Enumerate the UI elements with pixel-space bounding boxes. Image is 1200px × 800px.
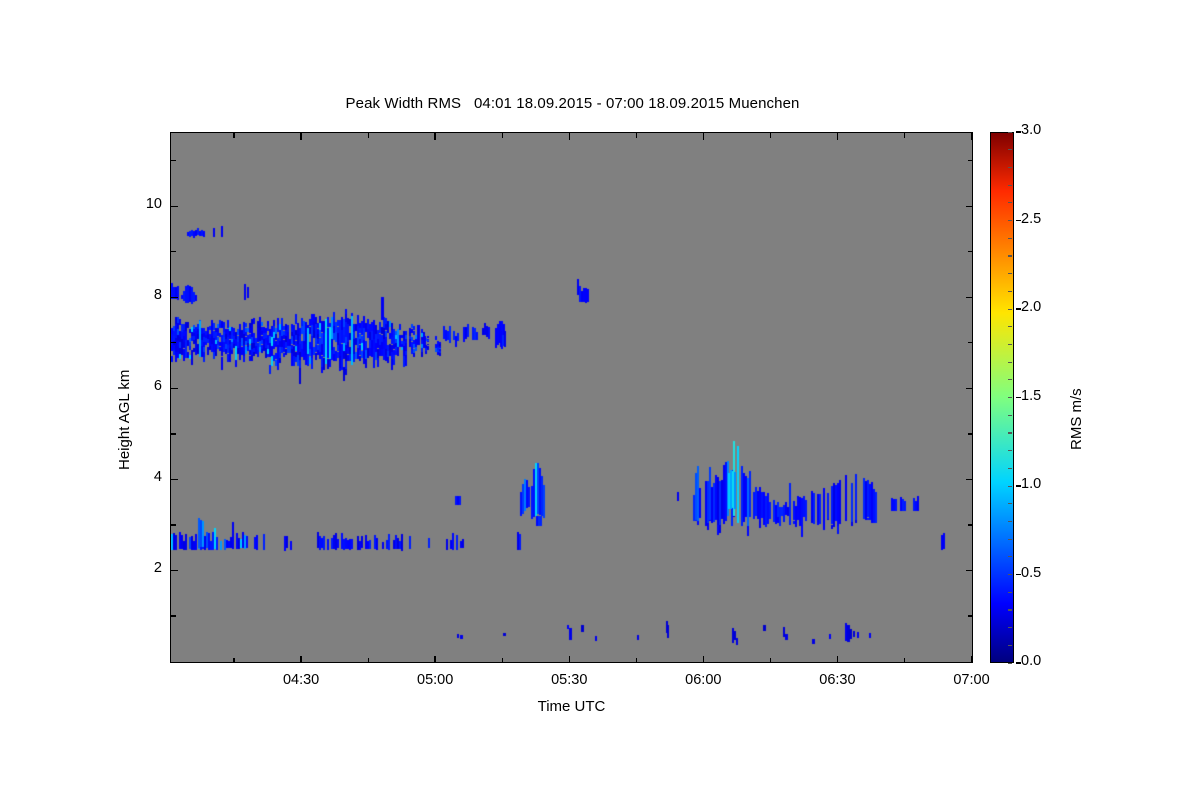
x-minor-top xyxy=(233,133,234,138)
colorbar-tick-label: 3.0 xyxy=(1021,122,1041,138)
colorbar-tick-label: 0.5 xyxy=(1021,565,1041,581)
colorbar-minor-tick xyxy=(1008,521,1012,522)
colorbar-minor-tick xyxy=(1008,309,1012,310)
colorbar-tick xyxy=(1016,220,1021,221)
x-tick-top xyxy=(300,133,302,140)
y-tick-label: 10 xyxy=(122,196,162,212)
y-tick-label: 2 xyxy=(122,560,162,576)
y-tick-left xyxy=(171,570,178,572)
colorbar-minor-tick xyxy=(1008,379,1012,380)
y-tick-label: 6 xyxy=(122,378,162,394)
x-minor-bottom xyxy=(770,658,771,663)
x-tick-bottom xyxy=(434,656,436,663)
colorbar-minor-tick xyxy=(1008,556,1012,557)
colorbar-minor-tick xyxy=(1008,273,1012,274)
y-tick-right xyxy=(966,570,973,572)
colorbar-minor-tick xyxy=(1008,326,1012,327)
x-minor-top xyxy=(770,133,771,138)
colorbar-tick-label: 2.5 xyxy=(1021,211,1041,227)
x-minor-bottom xyxy=(502,658,503,663)
colorbar-tick-label: 1.0 xyxy=(1021,476,1041,492)
colorbar-tick xyxy=(1016,308,1021,309)
y-tick-left xyxy=(171,479,178,481)
colorbar-minor-tick xyxy=(1008,167,1012,168)
x-minor-top xyxy=(904,133,905,138)
y-minor-left xyxy=(171,251,176,252)
colorbar-tick-label: 2.0 xyxy=(1021,299,1041,315)
y-tick-left xyxy=(171,297,178,299)
y-minor-right xyxy=(968,251,973,252)
colorbar-minor-tick xyxy=(1008,291,1012,292)
colorbar-tick-label: 1.5 xyxy=(1021,388,1041,404)
y-minor-left xyxy=(171,433,176,434)
colorbar-minor-tick xyxy=(1008,238,1012,239)
colorbar-tick xyxy=(1016,485,1021,486)
colorbar-minor-tick xyxy=(1008,645,1012,646)
x-axis-title: Time UTC xyxy=(170,698,973,715)
x-tick-bottom xyxy=(300,656,302,663)
x-tick-top xyxy=(434,133,436,140)
y-tick-right xyxy=(966,206,973,208)
x-tick-bottom xyxy=(703,656,705,663)
colorbar-minor-tick xyxy=(1008,609,1012,610)
colorbar-minor-tick xyxy=(1008,362,1012,363)
colorbar-minor-tick xyxy=(1008,255,1012,256)
x-minor-top xyxy=(502,133,503,138)
colorbar-tick xyxy=(1016,662,1021,663)
colorbar-minor-tick xyxy=(1008,627,1012,628)
y-minor-left xyxy=(171,342,176,343)
y-minor-left xyxy=(171,160,176,161)
colorbar-minor-tick xyxy=(1008,574,1012,575)
colorbar-minor-tick xyxy=(1008,503,1012,504)
x-tick-top xyxy=(837,133,839,140)
y-minor-right xyxy=(968,615,973,616)
colorbar-minor-tick xyxy=(1008,397,1012,398)
x-minor-bottom xyxy=(636,658,637,663)
x-minor-bottom xyxy=(904,658,905,663)
y-minor-right xyxy=(968,342,973,343)
colorbar-minor-tick xyxy=(1008,432,1012,433)
colorbar-minor-tick xyxy=(1008,202,1012,203)
x-tick-bottom xyxy=(837,656,839,663)
chart-title: Peak Width RMS 04:01 18.09.2015 - 07:00 … xyxy=(0,95,1145,112)
x-minor-top xyxy=(636,133,637,138)
x-tick-top xyxy=(971,133,973,140)
colorbar-minor-tick xyxy=(1008,486,1012,487)
y-tick-right xyxy=(966,297,973,299)
colorbar-tick xyxy=(1016,131,1021,132)
colorbar-minor-tick xyxy=(1008,344,1012,345)
colorbar-minor-tick xyxy=(1008,450,1012,451)
y-minor-left xyxy=(171,615,176,616)
figure: Peak Width RMS 04:01 18.09.2015 - 07:00 … xyxy=(0,0,1200,800)
x-tick-label: 04:30 xyxy=(266,672,336,688)
colorbar-minor-tick xyxy=(1008,592,1012,593)
colorbar-tick xyxy=(1016,397,1021,398)
colorbar-tick xyxy=(1016,574,1021,575)
x-tick-bottom xyxy=(569,656,571,663)
x-tick-top xyxy=(569,133,571,140)
colorbar-minor-tick xyxy=(1008,132,1012,133)
colorbar-tick-label: 0.0 xyxy=(1021,653,1041,669)
y-tick-label: 8 xyxy=(122,287,162,303)
colorbar-minor-tick xyxy=(1008,415,1012,416)
y-minor-right xyxy=(968,160,973,161)
colorbar-title: RMS m/s xyxy=(1068,388,1085,450)
colorbar-minor-tick xyxy=(1008,149,1012,150)
heatmap-canvas xyxy=(171,133,971,661)
plot-area xyxy=(170,132,973,663)
colorbar-minor-tick xyxy=(1008,539,1012,540)
y-tick-right xyxy=(966,479,973,481)
x-tick-label: 06:00 xyxy=(668,672,738,688)
y-tick-label: 4 xyxy=(122,469,162,485)
x-tick-label: 05:30 xyxy=(534,672,604,688)
x-minor-top xyxy=(368,133,369,138)
y-minor-left xyxy=(171,524,176,525)
x-tick-top xyxy=(703,133,705,140)
y-minor-right xyxy=(968,433,973,434)
colorbar-minor-tick xyxy=(1008,185,1012,186)
x-tick-label: 06:30 xyxy=(802,672,872,688)
x-minor-bottom xyxy=(368,658,369,663)
y-tick-left xyxy=(171,388,178,390)
colorbar-minor-tick xyxy=(1008,663,1012,664)
x-minor-bottom xyxy=(233,658,234,663)
x-tick-label: 07:00 xyxy=(937,672,1007,688)
y-minor-right xyxy=(968,524,973,525)
x-tick-label: 05:00 xyxy=(400,672,470,688)
y-tick-right xyxy=(966,388,973,390)
colorbar-minor-tick xyxy=(1008,468,1012,469)
colorbar-minor-tick xyxy=(1008,220,1012,221)
x-tick-bottom xyxy=(971,656,973,663)
y-tick-left xyxy=(171,206,178,208)
